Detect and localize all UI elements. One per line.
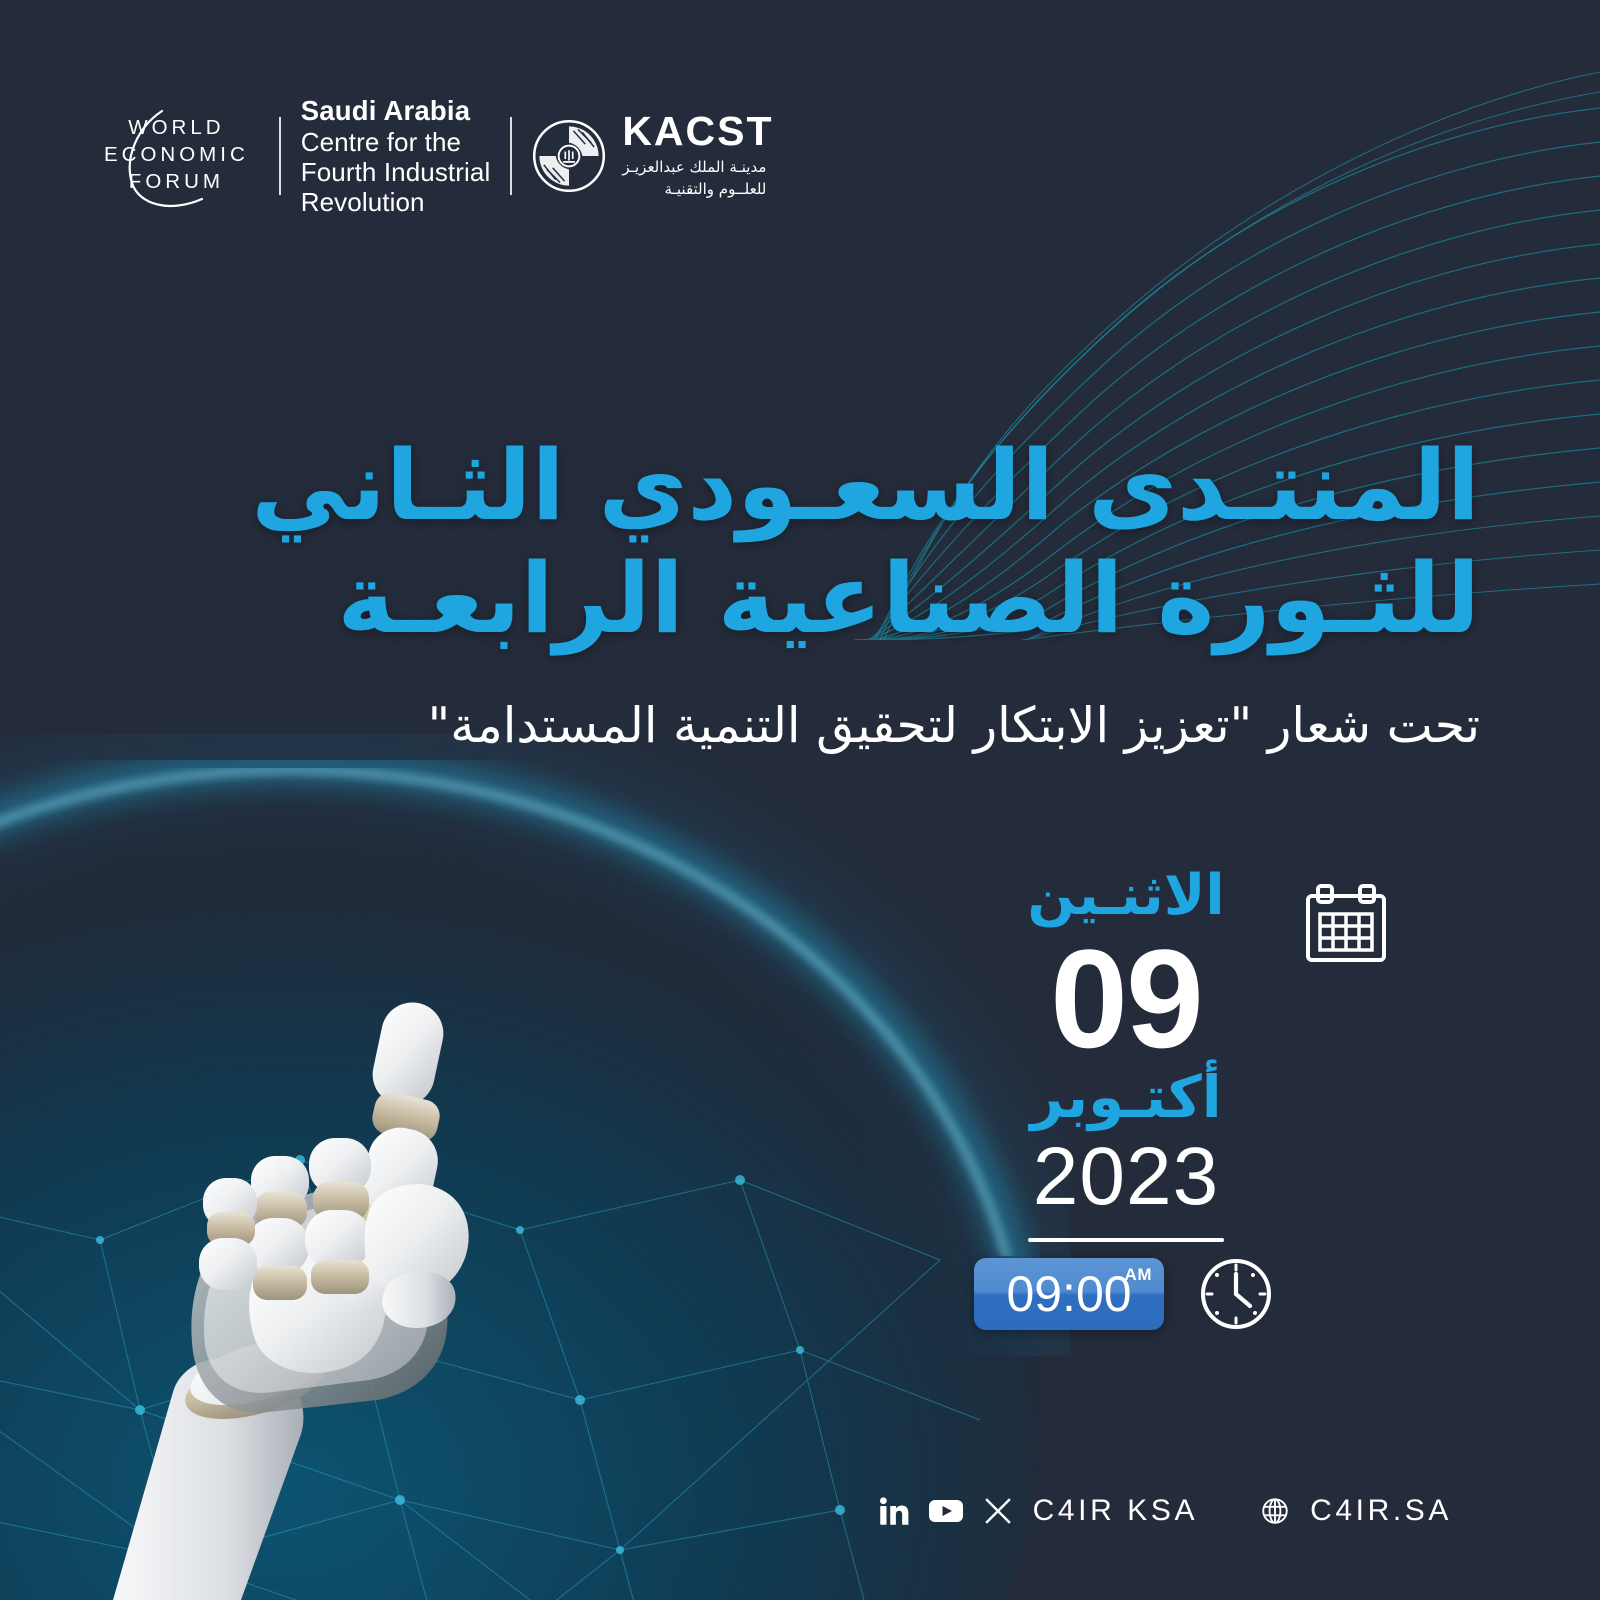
date-column: الاثنـين 09 أكتـوبر 2023 09:00 AM — [976, 868, 1276, 1332]
kacst-text: KACST مدينـة الملك عبدالعزيـز للعلــوم و… — [622, 111, 773, 201]
event-time-meridiem: AM — [1125, 1265, 1152, 1285]
event-datetime-block: الاثنـين 09 أكتـوبر 2023 09:00 AM — [830, 868, 1390, 1332]
kacst-logo: KACST مدينـة الملك عبدالعزيـز للعلــوم و… — [532, 111, 773, 201]
event-time-badge: 09:00 AM — [974, 1258, 1164, 1330]
c4ir-line-3: Fourth Industrial — [301, 157, 491, 187]
website-url[interactable]: C4IR.SA — [1310, 1494, 1452, 1528]
c4ir-logo: Saudi Arabia Centre for the Fourth Indus… — [301, 95, 491, 217]
c4ir-line-1: Saudi Arabia — [301, 95, 491, 127]
event-day: 09 — [1050, 928, 1202, 1071]
logo-divider-2 — [510, 117, 512, 195]
social-handle[interactable]: C4IR KSA — [1033, 1494, 1199, 1528]
event-time-value: 09:00 — [1006, 1269, 1131, 1319]
robotic-hand-graphic — [55, 960, 575, 1600]
headline-line-2: للثـورة الصناعية الرابعـة — [160, 543, 1480, 656]
youtube-icon[interactable] — [929, 1498, 963, 1524]
event-poster: WORLD ECONOMIC FORUM Saudi Arabia Centre… — [0, 0, 1600, 1600]
event-year: 2023 — [1033, 1132, 1219, 1222]
wef-swoosh-icon — [98, 105, 248, 211]
calendar-icon — [1302, 882, 1390, 966]
kacst-arabic-line-1: مدينـة الملك عبدالعزيـز — [622, 158, 766, 176]
clock-icon — [1198, 1256, 1274, 1332]
logo-divider-1 — [279, 117, 281, 195]
event-weekday: الاثنـين — [1027, 868, 1224, 924]
globe-icon[interactable] — [1260, 1496, 1290, 1526]
headline-line-1: المنتـدى السعـودي الثـاني — [160, 430, 1480, 543]
wef-logo: WORLD ECONOMIC FORUM — [100, 111, 259, 201]
event-month: أكتـوبر — [1030, 1067, 1221, 1128]
date-row: الاثنـين 09 أكتـوبر 2023 09:00 AM — [830, 868, 1390, 1332]
x-twitter-icon[interactable] — [983, 1496, 1013, 1526]
linkedin-icon[interactable] — [879, 1496, 909, 1526]
headline: المنتـدى السعـودي الثـاني للثـورة الصناع… — [160, 430, 1480, 655]
logo-bar: WORLD ECONOMIC FORUM Saudi Arabia Centre… — [100, 95, 774, 217]
kacst-arabic-line-2: للعلــوم والتقنيـة — [664, 180, 766, 198]
subtitle-slogan: تحت شعار "تعزيز الابتكار لتحقيق التنمية … — [160, 690, 1480, 761]
kacst-arabic: مدينـة الملك عبدالعزيـز للعلــوم والتقني… — [622, 157, 766, 201]
c4ir-line-2: Centre for the — [301, 127, 491, 157]
c4ir-line-4: Revolution — [301, 187, 491, 217]
kacst-english: KACST — [622, 111, 773, 152]
date-time-divider — [1028, 1238, 1224, 1242]
kacst-emblem-icon — [532, 119, 606, 193]
social-footer: C4IR KSA C4IR.SA — [879, 1494, 1452, 1528]
time-row: 09:00 AM — [974, 1256, 1274, 1332]
